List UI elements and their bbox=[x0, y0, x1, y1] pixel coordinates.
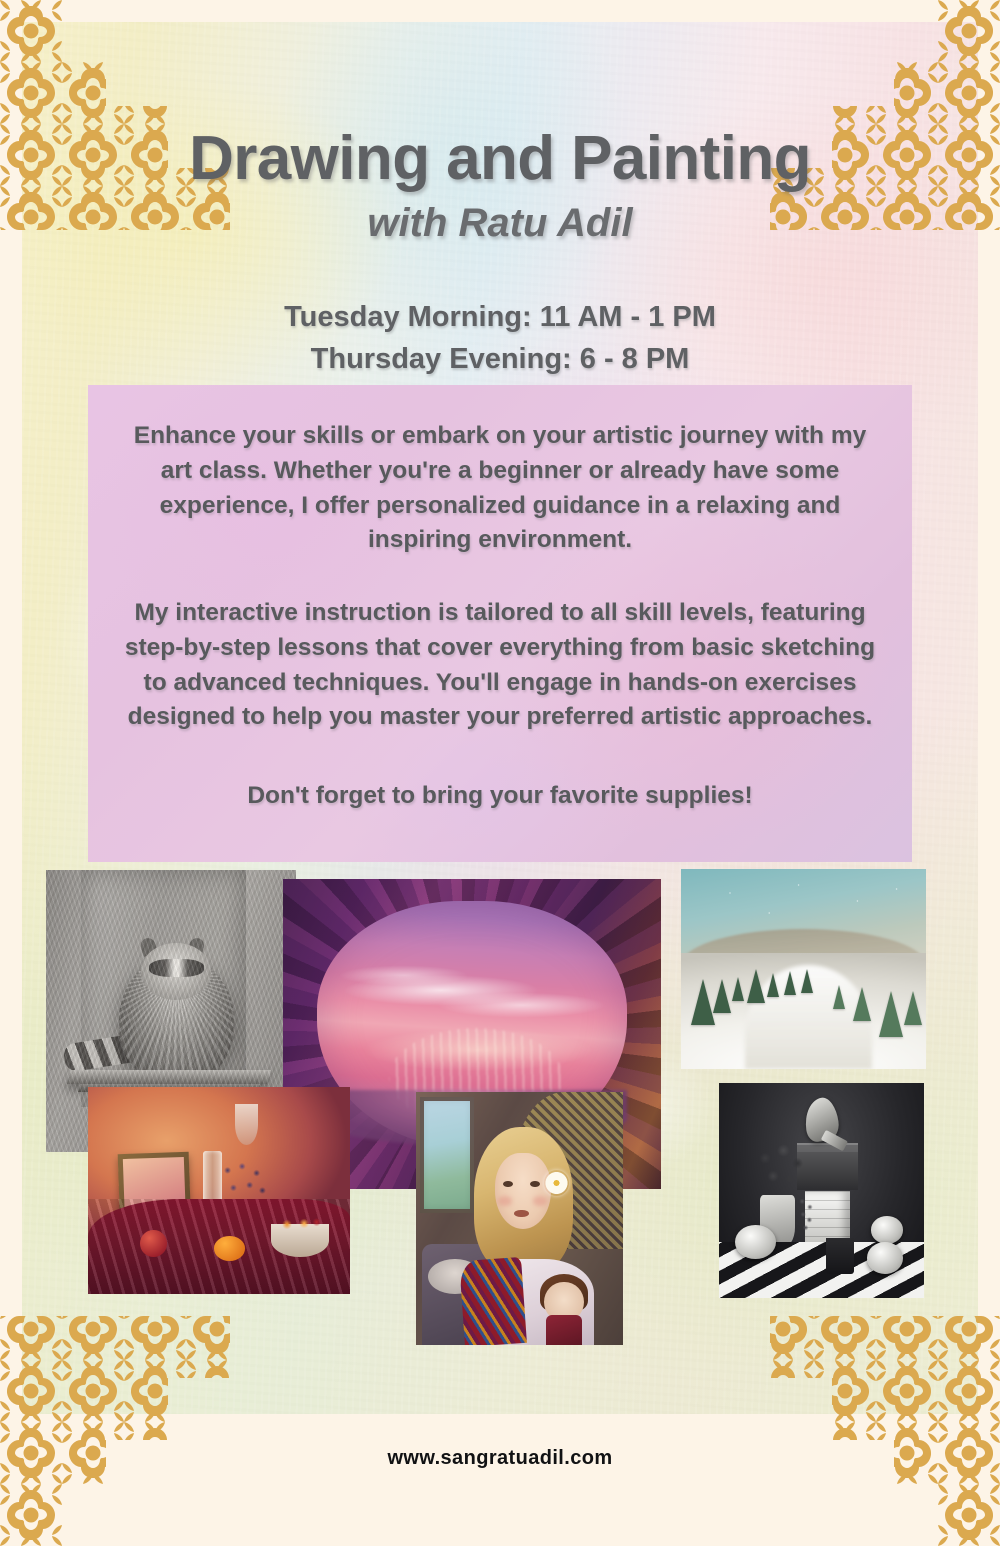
portrait-cheek-right bbox=[533, 1196, 547, 1206]
mono-dark-pot bbox=[826, 1238, 855, 1275]
portrait-face bbox=[495, 1153, 551, 1229]
monochrome-still-life-drawing bbox=[719, 1083, 924, 1298]
portrait-shawl bbox=[459, 1257, 527, 1345]
still-life-orange bbox=[214, 1236, 245, 1261]
still-life-apple bbox=[140, 1230, 166, 1257]
portrait-cheek-left bbox=[498, 1196, 512, 1206]
warm-still-life-painting bbox=[88, 1087, 350, 1294]
mono-grapes bbox=[795, 1195, 820, 1238]
girl-with-doll-portrait bbox=[416, 1092, 623, 1345]
portrait-mouth bbox=[514, 1210, 528, 1218]
website-url[interactable]: www.sangratuadil.com bbox=[0, 1447, 1000, 1470]
portrait-window-frame bbox=[420, 1097, 474, 1213]
mono-foliage bbox=[750, 1139, 812, 1204]
portrait-doll-body bbox=[546, 1315, 581, 1345]
portrait-hair-flower bbox=[544, 1170, 569, 1195]
winter-landscape-painting bbox=[681, 869, 926, 1069]
still-life-goblet bbox=[235, 1104, 259, 1145]
still-life-bowl-fruit bbox=[274, 1213, 326, 1232]
artwork-collage bbox=[0, 0, 1000, 1546]
poster-canvas: Drawing and Painting with Ratu Adil Tues… bbox=[0, 0, 1000, 1546]
winter-pine-trees bbox=[681, 869, 926, 1069]
